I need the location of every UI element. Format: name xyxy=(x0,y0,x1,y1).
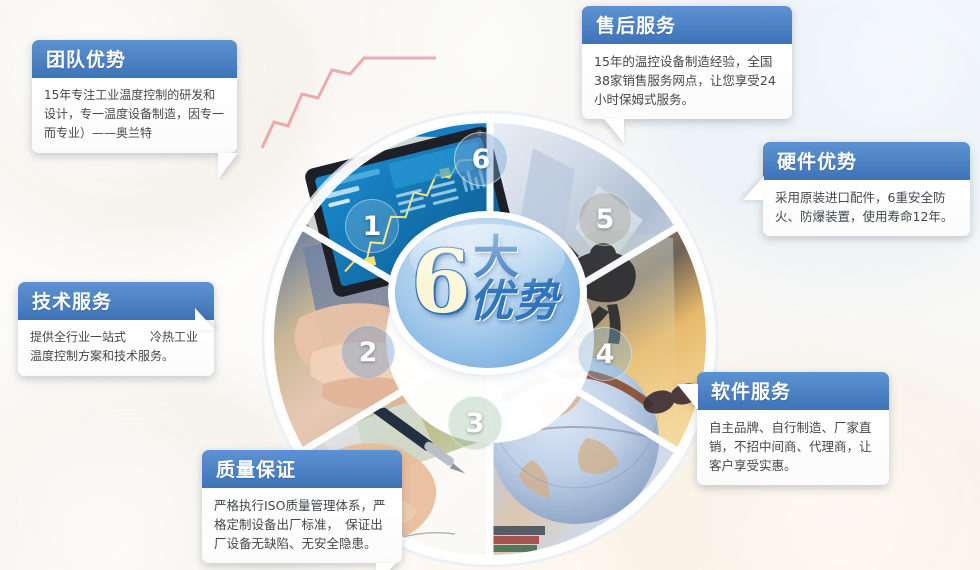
callout-tail-technical xyxy=(195,308,215,330)
callout-card-technical[interactable]: 技术服务 提供全行业一站式 冷热工业温度控制方案和技术服务。 xyxy=(18,282,214,376)
segment-number-3[interactable]: 3 xyxy=(448,396,502,450)
callout-body-technical: 提供全行业一站式 冷热工业温度控制方案和技术服务。 xyxy=(18,320,214,376)
callout-title-after-sales: 售后服务 xyxy=(582,6,792,44)
callout-body-after-sales: 15年的温控设备制造经验，全国38家销售服务网点，让您享受24小时保姆式服务。 xyxy=(582,44,792,119)
callout-card-after-sales[interactable]: 售后服务 15年的温控设备制造经验，全国38家销售服务网点，让您享受24小时保姆… xyxy=(582,6,792,119)
segment-number-4[interactable]: 4 xyxy=(578,327,632,381)
center-logo-youshi: 优势 xyxy=(469,278,559,326)
callout-body-team: 15年专注工业温度控制的研发和设计，专一温度设备制造，因专一而专业）——奥兰特 xyxy=(32,78,237,153)
callout-tail-software xyxy=(677,384,698,410)
callout-card-team[interactable]: 团队优势 15年专注工业温度控制的研发和设计，专一温度设备制造，因专一而专业）—… xyxy=(32,40,237,153)
callout-card-quality[interactable]: 质量保证 严格执行ISO质量管理体系，严格定制设备出厂标准， 保证出厂设备无缺陷… xyxy=(202,450,402,563)
segment-number-5[interactable]: 5 xyxy=(578,192,632,246)
callout-tail-team xyxy=(218,153,238,179)
center-logo-da: 大 xyxy=(473,234,519,280)
segment-number-1[interactable]: 1 xyxy=(345,199,399,253)
callout-tail-quality xyxy=(376,563,396,570)
callout-body-software: 自主品牌、自行制造、厂家直销，不招中间商、代理商，让客户享受实惠。 xyxy=(697,410,889,485)
callout-title-technical: 技术服务 xyxy=(18,282,214,320)
callout-title-team: 团队优势 xyxy=(32,40,237,78)
callout-title-software: 软件服务 xyxy=(697,372,889,410)
center-logo-bubble: 6 大 优势 xyxy=(395,218,580,368)
callout-body-quality: 严格执行ISO质量管理体系，严格定制设备出厂标准， 保证出厂设备无缺陷、无安全隐… xyxy=(202,488,402,563)
callout-card-software[interactable]: 软件服务 自主品牌、自行制造、厂家直销，不招中间商、代理商，让客户享受实惠。 xyxy=(697,372,889,485)
callout-card-hardware[interactable]: 硬件优势 采用原装进口配件，6重安全防火、防爆装置，使用寿命12年。 xyxy=(763,142,970,236)
callout-body-hardware: 采用原装进口配件，6重安全防火、防爆装置，使用寿命12年。 xyxy=(763,180,970,236)
segment-number-6[interactable]: 6 xyxy=(454,132,508,186)
callout-title-hardware: 硬件优势 xyxy=(763,142,970,180)
callout-tail-after-sales xyxy=(604,119,624,143)
segment-number-2[interactable]: 2 xyxy=(341,325,395,379)
callout-title-quality: 质量保证 xyxy=(202,450,402,488)
callout-tail-hardware xyxy=(743,176,764,200)
center-logo-number: 6 xyxy=(411,240,471,326)
infographic-canvas: 6 大 优势 1 2 3 4 5 6 团队优势 15年专注工业温度控制的研发和设… xyxy=(0,0,980,570)
